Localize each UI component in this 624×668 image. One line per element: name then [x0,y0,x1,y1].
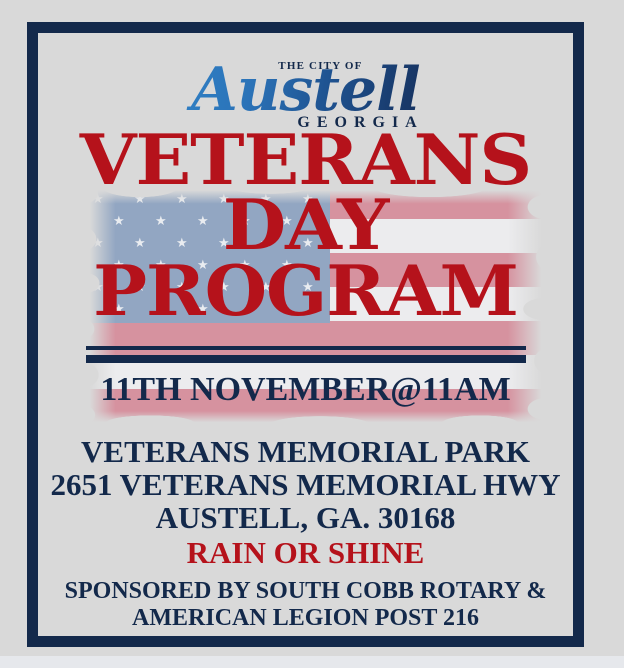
logo-lockup: Austell THE CITY OF GEORGIA [183,57,427,123]
poster-canvas: ★ ★ ★ ★ ★ ★ ★ ★ ★ ★ ★ ★ ★ ★ ★ ★ ★ [0,0,624,668]
flag-torn-edge-bottom [80,407,550,425]
event-datetime: 11TH NOVEMBER@11AM [38,371,573,409]
logo-eyebrow-text: THE CITY OF [278,60,362,72]
sponsor-block: SPONSORED BY SOUTH COBB ROTARY & AMERICA… [38,578,573,632]
location-city-state-zip: AUSTELL, GA. 30168 [38,501,573,534]
headline-line-program: PROGRAM [38,260,573,323]
navy-divider-bars [86,346,526,363]
headline-line-veterans: VETERANS [38,129,573,192]
sponsor-line-2: AMERICAN LEGION POST 216 [38,605,573,632]
sponsor-line-1: SPONSORED BY SOUTH COBB ROTARY & [38,578,573,605]
location-street: 2651 VETERANS MEMORIAL HWY [38,468,573,501]
headline-line-day: DAY [38,194,573,257]
location-venue: VETERANS MEMORIAL PARK [38,435,573,468]
poster-inner: ★ ★ ★ ★ ★ ★ ★ ★ ★ ★ ★ ★ ★ ★ ★ ★ ★ [38,33,573,636]
divider-bar-thick [86,355,526,363]
poster-frame: ★ ★ ★ ★ ★ ★ ★ ★ ★ ★ ★ ★ ★ ★ ★ ★ ★ [27,22,584,647]
event-headline: VETERANS DAY PROGRAM [38,129,573,323]
event-location-block: VETERANS MEMORIAL PARK 2651 VETERANS MEM… [38,435,573,570]
weather-note: RAIN OR SHINE [38,534,573,569]
footer-band [0,656,624,668]
